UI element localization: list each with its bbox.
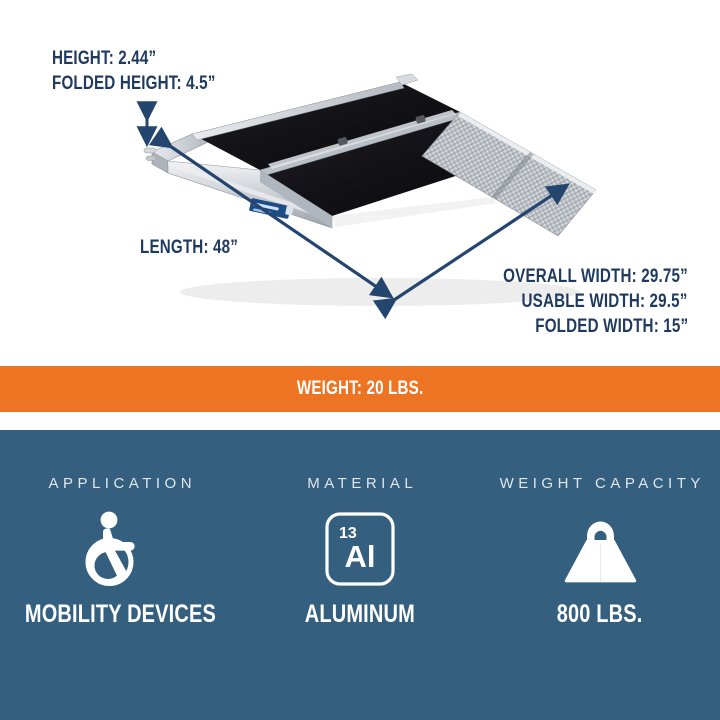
spec-folded-height-text: FOLDED HEIGHT: 4.5” xyxy=(52,73,216,95)
feature-weight-capacity-heading: WEIGHT CAPACITY xyxy=(495,475,705,492)
feature-application-heading: APPLICATION xyxy=(44,475,196,492)
feature-material: MATERIAL 13 Al ALUMINUM xyxy=(240,430,480,629)
spec-length-text: LENGTH: 48” xyxy=(140,237,238,259)
feature-weight-capacity-value: 800 LBS. xyxy=(557,600,643,629)
spec-height: HEIGHT: 2.44” xyxy=(52,48,182,70)
feature-application-value: MOBILITY DEVICES xyxy=(24,600,215,629)
length-arrow xyxy=(170,146,390,296)
spec-folded-width-text: FOLDED WIDTH: 15” xyxy=(535,316,688,338)
spec-folded-width: FOLDED WIDTH: 15” xyxy=(497,316,688,338)
feature-panel: APPLICATION MOBILITY DEVICES MA xyxy=(0,430,720,720)
spec-overall-width-text: OVERALL WIDTH: 29.75” xyxy=(503,266,688,288)
weight-band-text: WEIGHT: 20 LBS. xyxy=(297,378,424,400)
weight-band: WEIGHT: 20 LBS. xyxy=(0,366,720,412)
spec-overall-width: OVERALL WIDTH: 29.75” xyxy=(457,266,688,288)
product-photo-area: HEIGHT: 2.44” FOLDED HEIGHT: 4.5” LENGTH… xyxy=(0,0,720,366)
spec-folded-height: FOLDED HEIGHT: 4.5” xyxy=(52,73,256,95)
spec-usable-width: USABLE WIDTH: 29.5” xyxy=(480,291,688,313)
periodic-element-aluminum-icon: 13 Al xyxy=(323,508,397,590)
spec-usable-width-text: USABLE WIDTH: 29.5” xyxy=(522,291,688,313)
feature-application: APPLICATION MOBILITY DEVICES xyxy=(0,430,240,629)
weight-kettlebell-icon xyxy=(557,508,643,590)
wheelchair-accessibility-icon xyxy=(83,508,157,590)
feature-material-value: ALUMINUM xyxy=(305,600,415,629)
feature-material-heading: MATERIAL xyxy=(303,475,417,492)
element-symbol: Al xyxy=(345,539,376,574)
spec-length: LENGTH: 48” xyxy=(140,237,263,259)
product-infographic: HEIGHT: 2.44” FOLDED HEIGHT: 4.5” LENGTH… xyxy=(0,0,720,720)
spec-height-text: HEIGHT: 2.44” xyxy=(52,48,156,70)
feature-row: APPLICATION MOBILITY DEVICES MA xyxy=(0,430,720,665)
feature-weight-capacity: WEIGHT CAPACITY 800 LBS. xyxy=(480,430,720,629)
